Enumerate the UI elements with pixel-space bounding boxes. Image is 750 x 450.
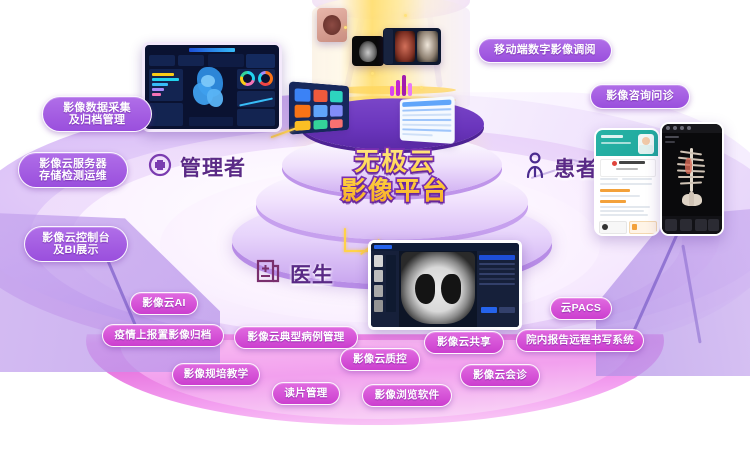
pill-film-reading-management[interactable]: 读片管理 xyxy=(272,382,340,405)
pill-cloud-ai-label: 影像云AI xyxy=(142,298,186,310)
pill-quality-control-label: 影像云质控 xyxy=(353,354,407,366)
pill-cloud-server-ops[interactable]: 影像云服务器 存储检测运维 xyxy=(18,152,128,188)
pill-cloud-server-ops-label: 影像云服务器 存储检测运维 xyxy=(39,158,107,183)
pacs-viewer-mockup xyxy=(368,240,522,330)
pill-cloud-pacs-label: 云PACS xyxy=(561,303,601,315)
circle-plus-medical-icon xyxy=(148,153,172,182)
pill-cloud-consultation[interactable]: 影像云会诊 xyxy=(460,364,540,387)
pill-quality-control[interactable]: 影像云质控 xyxy=(340,348,420,371)
pill-standard-training[interactable]: 影像规培教学 xyxy=(172,363,260,386)
report-table-screen xyxy=(400,96,455,144)
pill-mobile-image-retrieval-label: 移动端数字影像调阅 xyxy=(494,44,596,56)
pill-cloud-ai[interactable]: 影像云AI xyxy=(130,292,198,315)
xray-3d-app-mockup xyxy=(660,122,724,236)
pill-cloud-sharing-label: 影像云共享 xyxy=(437,337,491,349)
cloud-imaging-platform-diagram: 无极云 影像平台 无极云 影像平台 管理者 患者 xyxy=(0,0,750,450)
bi-dashboard-mockup xyxy=(142,42,282,132)
pill-data-collection[interactable]: 影像数据采集 及归档管理 xyxy=(42,96,152,132)
role-patient[interactable]: 患者 xyxy=(524,152,598,183)
pill-typical-case-management-label: 影像云典型病例管理 xyxy=(247,332,344,344)
pill-film-reading-management-label: 读片管理 xyxy=(284,388,327,400)
pill-image-consultation-label: 影像咨询问诊 xyxy=(606,90,674,102)
role-patient-label: 患者 xyxy=(554,153,598,183)
pill-cloud-sharing[interactable]: 影像云共享 xyxy=(424,331,504,354)
pill-image-consultation[interactable]: 影像咨询问诊 xyxy=(590,84,690,109)
pill-image-browser-software-label: 影像浏览软件 xyxy=(375,390,440,402)
pill-mobile-image-retrieval[interactable]: 移动端数字影像调阅 xyxy=(478,38,612,63)
role-administrator-label: 管理者 xyxy=(180,152,246,182)
pill-epidemic-report-archive[interactable]: 疫情上报置影像归档 xyxy=(102,324,224,347)
page-title: 无极云 影像平台 xyxy=(300,148,490,206)
app-grid-screen xyxy=(289,81,349,134)
pill-remote-report-writing[interactable]: 院内报告远程书写系统 xyxy=(516,329,644,352)
pill-typical-case-management[interactable]: 影像云典型病例管理 xyxy=(234,326,358,349)
pill-cloud-consultation-label: 影像云会诊 xyxy=(473,370,527,382)
pill-cloud-pacs[interactable]: 云PACS xyxy=(550,297,612,320)
person-icon xyxy=(524,152,546,183)
connector-doctor-vert xyxy=(344,228,346,252)
pill-remote-report-writing-label: 院内报告远程书写系统 xyxy=(526,335,634,347)
patient-app-mockup xyxy=(594,128,660,236)
pill-epidemic-report-archive-label: 疫情上报置影像归档 xyxy=(114,330,211,342)
pill-standard-training-label: 影像规培教学 xyxy=(184,369,249,381)
endoscopy-thumbnail xyxy=(317,8,347,42)
role-doctor-label: 医生 xyxy=(290,259,334,289)
medical-record-icon xyxy=(256,258,282,289)
bar-chart-icon xyxy=(388,72,420,98)
pill-console-bi[interactable]: 影像云控制台 及BI展示 xyxy=(24,226,128,262)
radiology-viewer-thumbnail xyxy=(383,28,441,65)
role-doctor[interactable]: 医生 xyxy=(256,258,334,289)
role-administrator[interactable]: 管理者 xyxy=(148,152,246,182)
pill-image-browser-software[interactable]: 影像浏览软件 xyxy=(362,384,452,407)
pill-data-collection-label: 影像数据采集 及归档管理 xyxy=(63,102,131,127)
pill-console-bi-label: 影像云控制台 及BI展示 xyxy=(42,232,110,257)
ultrasound-thumbnail xyxy=(352,36,384,66)
